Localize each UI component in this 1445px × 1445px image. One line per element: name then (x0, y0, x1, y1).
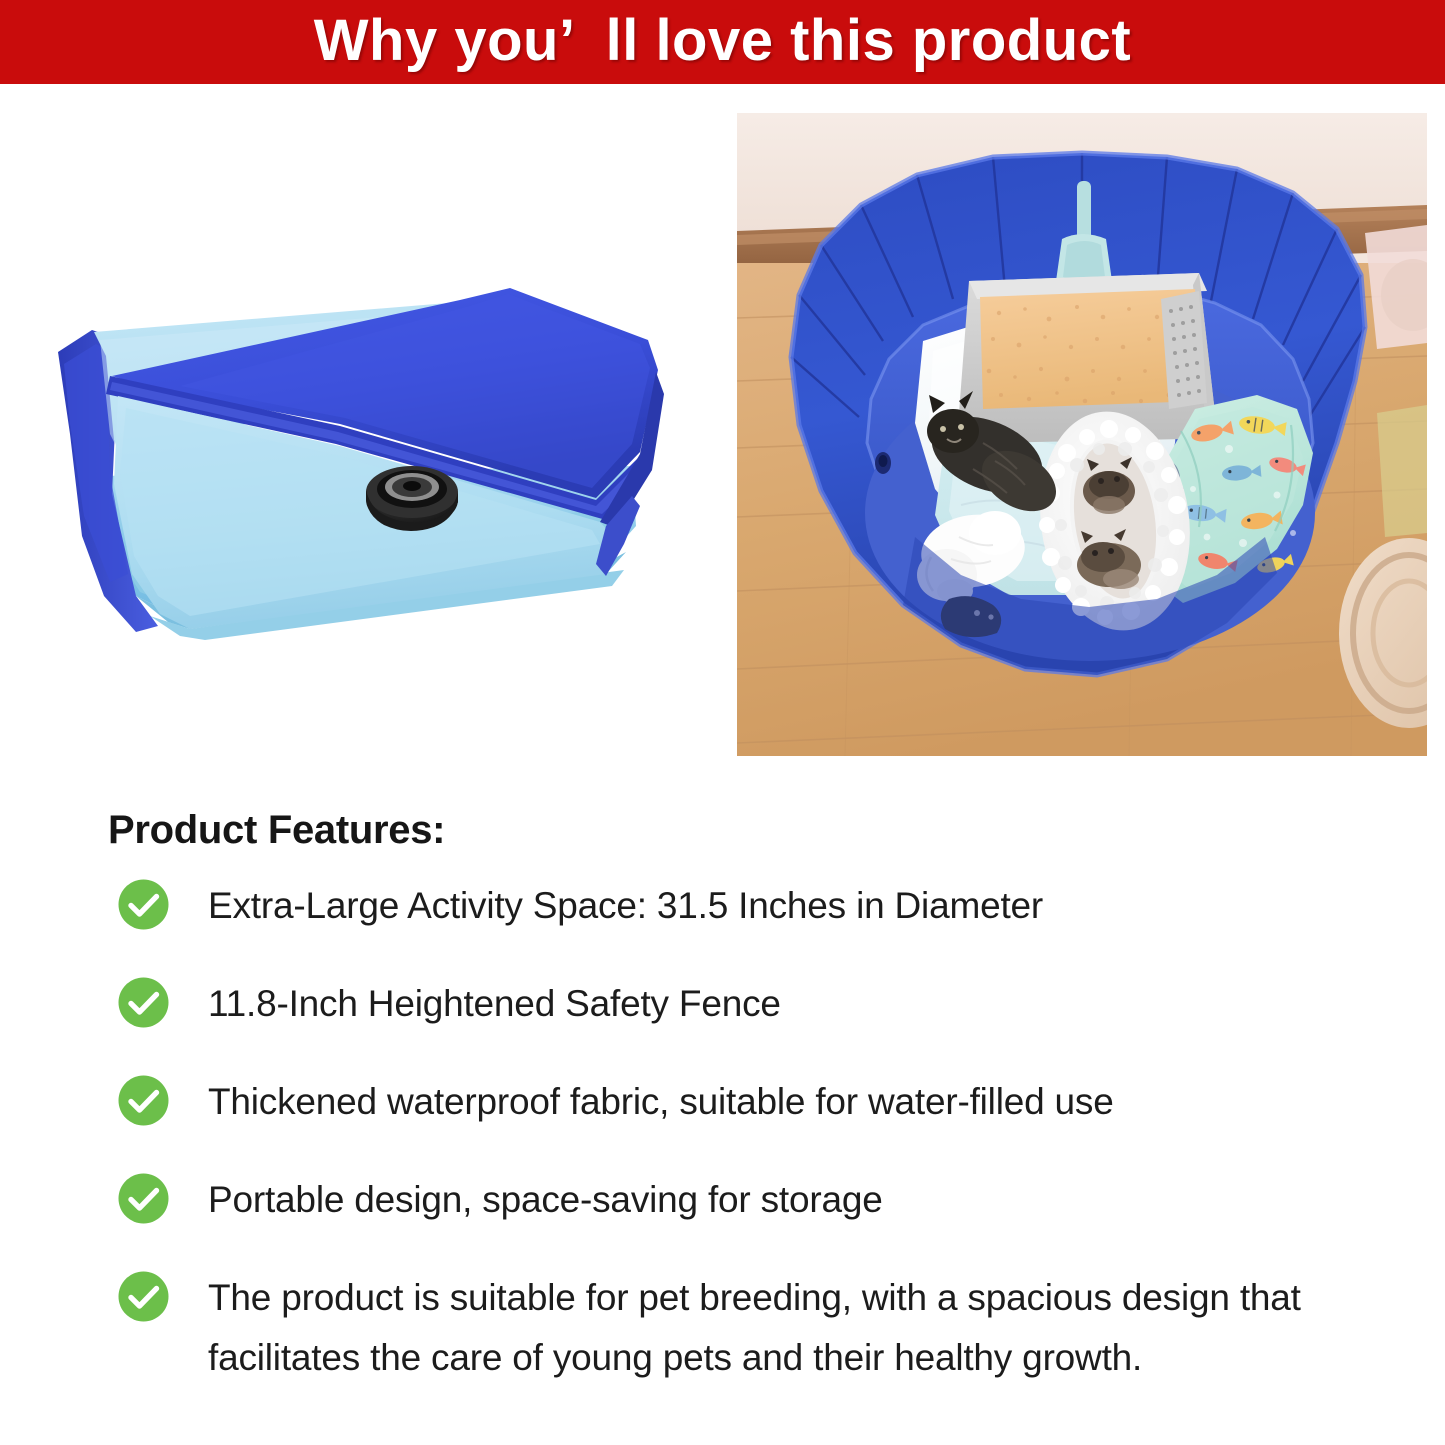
feature-text: 11.8-Inch Heightened Safety Fence (208, 974, 781, 1034)
pen-latch (875, 452, 891, 474)
header-banner: Why you’ ll love this product (0, 0, 1445, 84)
product-images-row (0, 84, 1445, 784)
folded-pet-pool-photo (40, 244, 680, 644)
folded-pool-illustration (40, 244, 680, 644)
feature-text: The product is suitable for pet breeding… (208, 1268, 1393, 1388)
check-circle-icon (117, 1074, 170, 1127)
features-list: Extra-Large Activity Space: 31.5 Inches … (0, 876, 1445, 1388)
features-heading: Product Features: (108, 808, 445, 853)
check-circle-icon (117, 1172, 170, 1225)
pet-pen-illustration (737, 113, 1427, 756)
pet-pen-with-kittens-photo (737, 113, 1427, 756)
feature-item: Portable design, space-saving for storag… (0, 1170, 1445, 1230)
feature-text: Portable design, space-saving for storag… (208, 1170, 883, 1230)
check-circle-icon (117, 878, 170, 931)
check-circle-icon (117, 976, 170, 1029)
feature-item: 11.8-Inch Heightened Safety Fence (0, 974, 1445, 1034)
feature-text: Extra-Large Activity Space: 31.5 Inches … (208, 876, 1043, 936)
feature-text: Thickened waterproof fabric, suitable fo… (208, 1072, 1114, 1132)
page-title: Why you’ ll love this product (314, 12, 1131, 70)
feature-item: The product is suitable for pet breeding… (0, 1268, 1445, 1388)
feature-item: Thickened waterproof fabric, suitable fo… (0, 1072, 1445, 1132)
check-circle-icon (117, 1270, 170, 1323)
feature-item: Extra-Large Activity Space: 31.5 Inches … (0, 876, 1445, 936)
